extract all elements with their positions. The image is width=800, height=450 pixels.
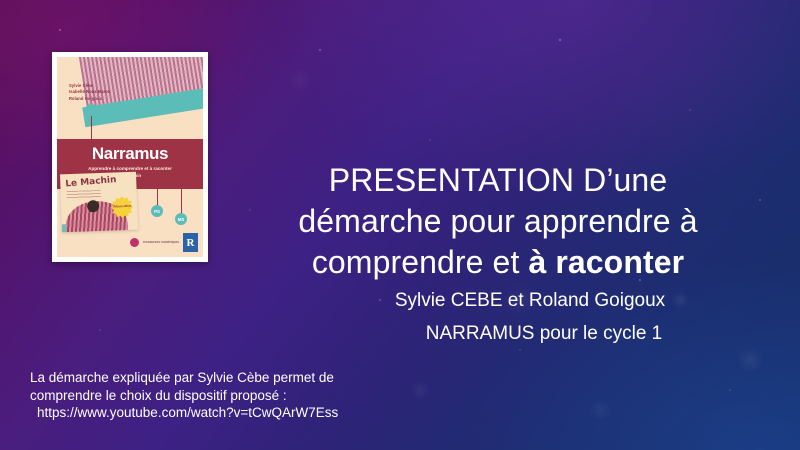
badge-connector-line-ms bbox=[181, 189, 182, 215]
presentation-slide: Sylvie Cèbe Isabelle Roux-Baron Roland G… bbox=[0, 0, 800, 450]
level-badge-ms: MS bbox=[175, 213, 187, 225]
slide-subtitle: Sylvie CEBE et Roland Goigoux NARRAMUS p… bbox=[300, 284, 760, 350]
ressources-numeriques-label: ressources numériques bbox=[143, 240, 179, 244]
caption-line-1: La démarche expliquée par Sylvie Cèbe pe… bbox=[30, 369, 430, 387]
book-cover-authors: Sylvie Cèbe Isabelle Roux-Baron Roland G… bbox=[69, 83, 110, 102]
inset-album-title: Le Machin bbox=[65, 175, 117, 189]
slide-title: PRESENTATION D’une démarche pour apprend… bbox=[238, 160, 758, 283]
book-cover-artwork: Sylvie Cèbe Isabelle Roux-Baron Roland G… bbox=[57, 57, 203, 257]
book-cover-title: Narramus bbox=[57, 144, 203, 164]
book-cover-image: Sylvie Cèbe Isabelle Roux-Baron Roland G… bbox=[52, 52, 208, 262]
title-line-3-accent: à raconter bbox=[528, 244, 684, 280]
slide-caption: La démarche expliquée par Sylvie Cèbe pe… bbox=[30, 369, 430, 422]
book-cover-bullet-dot bbox=[85, 104, 97, 116]
title-line-1: PRESENTATION D’une bbox=[238, 160, 758, 201]
title-line-3: comprendre et à raconter bbox=[238, 242, 758, 283]
subtitle-authors: Sylvie CEBE et Roland Goigoux bbox=[300, 284, 760, 317]
le-machin-album-inset: Le Machin Album offert bbox=[60, 172, 138, 233]
title-line-2: démarche pour apprendre à bbox=[238, 201, 758, 242]
caption-line-2: comprendre le choix du dispositif propos… bbox=[30, 387, 430, 405]
subtitle-program: NARRAMUS pour le cycle 1 bbox=[300, 317, 760, 350]
caption-video-url[interactable]: https://www.youtube.com/watch?v=tCwQArW7… bbox=[30, 404, 430, 422]
book-author-3: Roland Goigoux bbox=[69, 96, 110, 102]
book-cover-footer: ressources numériques R bbox=[130, 233, 198, 252]
ressources-numeriques-icon bbox=[130, 238, 139, 247]
inset-text-lines-decoration bbox=[67, 190, 101, 200]
title-line-3-normal: comprendre et bbox=[312, 244, 529, 280]
retz-publisher-logo: R bbox=[183, 233, 198, 252]
book-author-2: Isabelle Roux-Baron bbox=[69, 89, 110, 95]
level-badge-ps: PS bbox=[151, 205, 163, 217]
